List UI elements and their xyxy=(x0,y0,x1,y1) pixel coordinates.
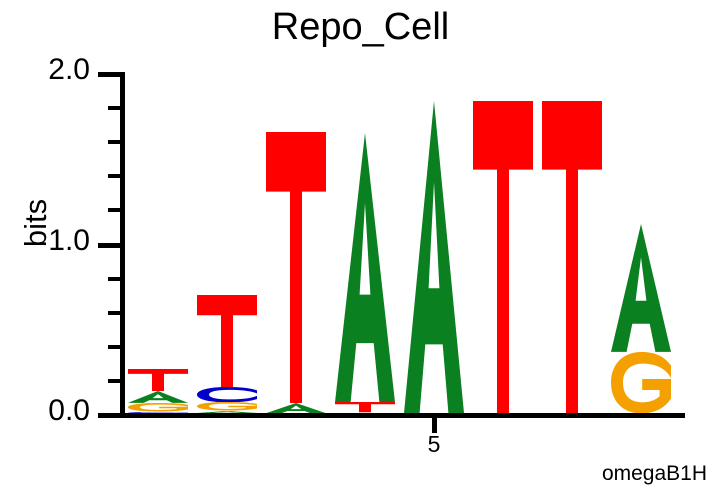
logo-letter-T xyxy=(128,369,188,391)
axis-segment xyxy=(98,243,120,248)
axis-segment xyxy=(108,72,120,76)
logo-stack-position-2 xyxy=(197,295,257,413)
sequence-logo-plot: Repo_Cell bits 2.01.00.0 5 omegaB1H xyxy=(0,0,721,496)
logo-letter-T xyxy=(542,101,602,413)
logo-letter-A xyxy=(611,224,671,352)
logo-letter-T xyxy=(473,101,533,413)
axis-segment xyxy=(108,174,120,178)
axis-segment xyxy=(108,277,120,281)
axis-segment xyxy=(120,72,125,418)
logo-letter-T xyxy=(266,132,326,403)
logo-letter-T xyxy=(335,402,395,412)
logo-letter-C xyxy=(128,412,188,414)
corner-annotation: omegaB1H xyxy=(602,462,707,486)
logo-stack-position-8 xyxy=(611,224,671,413)
y-tick-label: 0.0 xyxy=(26,396,90,426)
logo-letter-G xyxy=(197,402,257,411)
logo-stack-position-5 xyxy=(404,101,464,413)
x-tick-label: 5 xyxy=(409,431,459,458)
axis-segment xyxy=(108,208,120,212)
logo-letter-T xyxy=(197,295,257,387)
logo-letter-A xyxy=(404,101,464,413)
axis-segment xyxy=(108,345,120,349)
axis-segment xyxy=(98,413,120,418)
y-tick-label: 1.0 xyxy=(26,226,90,256)
logo-stack-position-1 xyxy=(128,369,188,413)
logo-letter-A xyxy=(128,391,188,403)
axis-segment xyxy=(108,311,120,315)
axis-segment xyxy=(108,379,120,383)
y-axis-label: bits xyxy=(18,163,54,283)
logo-stack-position-7 xyxy=(542,101,602,413)
logo-stack-position-4 xyxy=(335,133,395,413)
axis-segment xyxy=(108,140,120,144)
logo-letter-A xyxy=(266,403,326,413)
logo-letter-G xyxy=(128,403,188,412)
logo-stack-position-6 xyxy=(473,101,533,413)
logo-letter-A xyxy=(197,411,257,413)
axis-segment xyxy=(120,413,685,418)
logo-letter-C xyxy=(197,387,257,402)
y-tick-label: 2.0 xyxy=(26,55,90,85)
logo-letter-A xyxy=(335,133,395,402)
logo-letter-G xyxy=(611,352,671,413)
logo-stack-position-3 xyxy=(266,132,326,413)
page-title: Repo_Cell xyxy=(0,6,721,49)
axis-segment xyxy=(108,106,120,110)
